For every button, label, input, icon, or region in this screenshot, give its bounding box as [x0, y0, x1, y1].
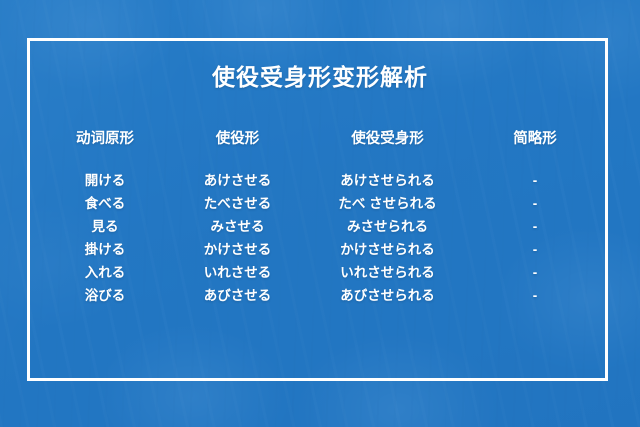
page-title: 使役受身形变形解析 — [0, 66, 640, 89]
cell-causative-passive: いれさせられる — [305, 261, 470, 284]
table-row: 食べる たべさせる たべ させられる - — [40, 192, 600, 215]
cell-short-form: - — [470, 169, 600, 192]
cell-causative-form: いれさせる — [170, 261, 305, 284]
cell-causative-passive: たべ させられる — [305, 192, 470, 215]
cell-causative-form: あびさせる — [170, 284, 305, 307]
cell-short-form: - — [470, 192, 600, 215]
table-row: 入れる いれさせる いれさせられる - — [40, 261, 600, 284]
table-row: 掛ける かけさせる かけさせられる - — [40, 238, 600, 261]
cell-short-form: - — [470, 215, 600, 238]
cell-short-form: - — [470, 261, 600, 284]
column-header-dictionary-form: 动词原形 — [40, 132, 170, 169]
table-header: 动词原形 使役形 使役受身形 简略形 — [40, 132, 600, 169]
conjugation-table: 动词原形 使役形 使役受身形 简略形 開ける あけさせる あけさせられる - 食… — [40, 132, 600, 307]
cell-causative-passive: あびさせられる — [305, 284, 470, 307]
cell-dictionary-form: 入れる — [40, 261, 170, 284]
cell-short-form: - — [470, 284, 600, 307]
cell-short-form: - — [470, 238, 600, 261]
table-row: 見る みさせる みさせられる - — [40, 215, 600, 238]
table-row: 開ける あけさせる あけさせられる - — [40, 169, 600, 192]
cell-causative-form: かけさせる — [170, 238, 305, 261]
column-header-causative-passive: 使役受身形 — [305, 132, 470, 169]
cell-dictionary-form: 浴びる — [40, 284, 170, 307]
table-body: 開ける あけさせる あけさせられる - 食べる たべさせる たべ させられる -… — [40, 169, 600, 307]
cell-dictionary-form: 見る — [40, 215, 170, 238]
cell-causative-passive: かけさせられる — [305, 238, 470, 261]
cell-causative-form: あけさせる — [170, 169, 305, 192]
column-header-causative-form: 使役形 — [170, 132, 305, 169]
cell-causative-passive: あけさせられる — [305, 169, 470, 192]
table-header-row: 动词原形 使役形 使役受身形 简略形 — [40, 132, 600, 169]
slide-content: 使役受身形变形解析 动词原形 使役形 使役受身形 简略形 開ける あけさせる あ… — [0, 0, 640, 427]
cell-causative-form: みさせる — [170, 215, 305, 238]
cell-causative-passive: みさせられる — [305, 215, 470, 238]
slide-canvas: 使役受身形变形解析 动词原形 使役形 使役受身形 简略形 開ける あけさせる あ… — [0, 0, 640, 427]
cell-dictionary-form: 掛ける — [40, 238, 170, 261]
cell-dictionary-form: 開ける — [40, 169, 170, 192]
cell-dictionary-form: 食べる — [40, 192, 170, 215]
table-row: 浴びる あびさせる あびさせられる - — [40, 284, 600, 307]
column-header-short-form: 简略形 — [470, 132, 600, 169]
cell-causative-form: たべさせる — [170, 192, 305, 215]
